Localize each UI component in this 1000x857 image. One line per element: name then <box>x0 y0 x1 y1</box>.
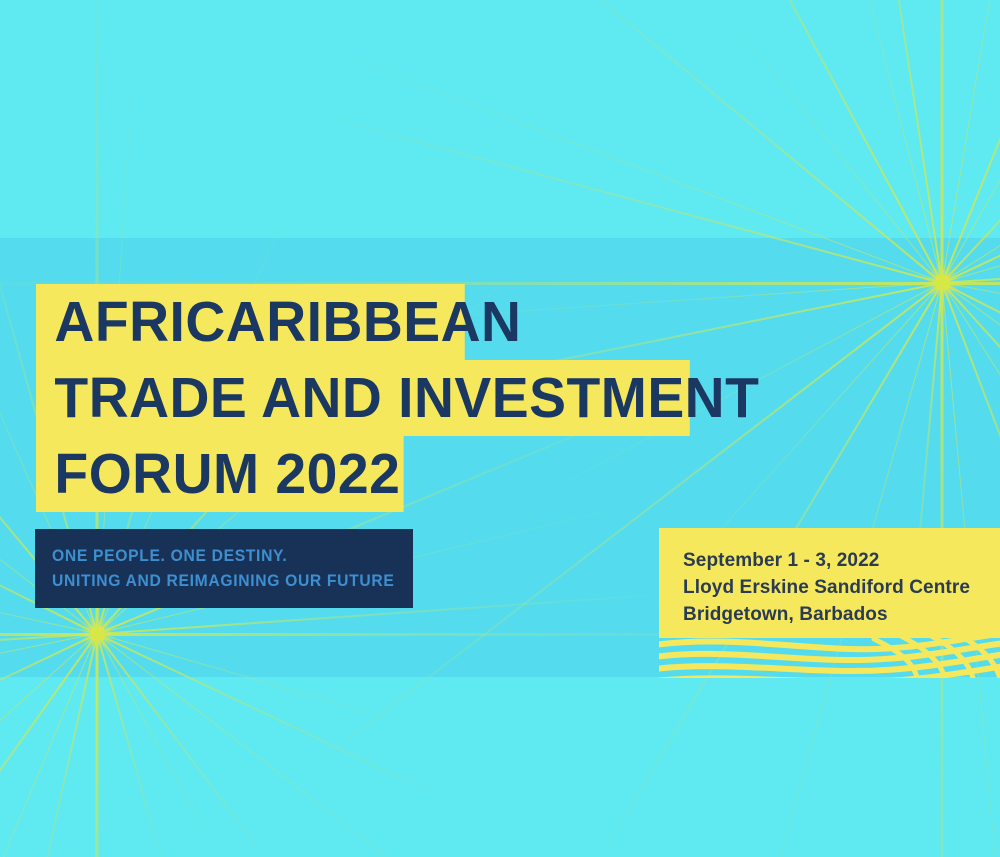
tagline-line-2: UNITING AND REIMAGINING OUR FUTURE <box>52 569 395 594</box>
event-banner: AFRICARIBBEAN TRADE AND INVESTMENT FORUM… <box>0 0 1000 857</box>
title-line-1: AFRICARIBBEAN <box>36 284 465 360</box>
tagline-line-1: ONE PEOPLE. ONE DESTINY. <box>52 544 395 569</box>
event-details-box: September 1 - 3, 2022 Lloyd Erskine Sand… <box>659 528 1000 638</box>
event-date: September 1 - 3, 2022 <box>683 547 1000 574</box>
event-venue: Lloyd Erskine Sandiford Centre <box>683 574 1000 601</box>
title-line-3: FORUM 2022 <box>36 436 404 512</box>
banner-title: AFRICARIBBEAN TRADE AND INVESTMENT FORUM… <box>36 284 710 512</box>
event-location: Bridgetown, Barbados <box>683 601 1000 628</box>
background-band-top <box>0 0 1000 238</box>
banner-tagline: ONE PEOPLE. ONE DESTINY. UNITING AND REI… <box>35 529 413 608</box>
title-line-2: TRADE AND INVESTMENT <box>36 360 690 436</box>
wave-lines-decoration <box>659 637 1000 678</box>
background-band-bottom <box>0 677 1000 857</box>
